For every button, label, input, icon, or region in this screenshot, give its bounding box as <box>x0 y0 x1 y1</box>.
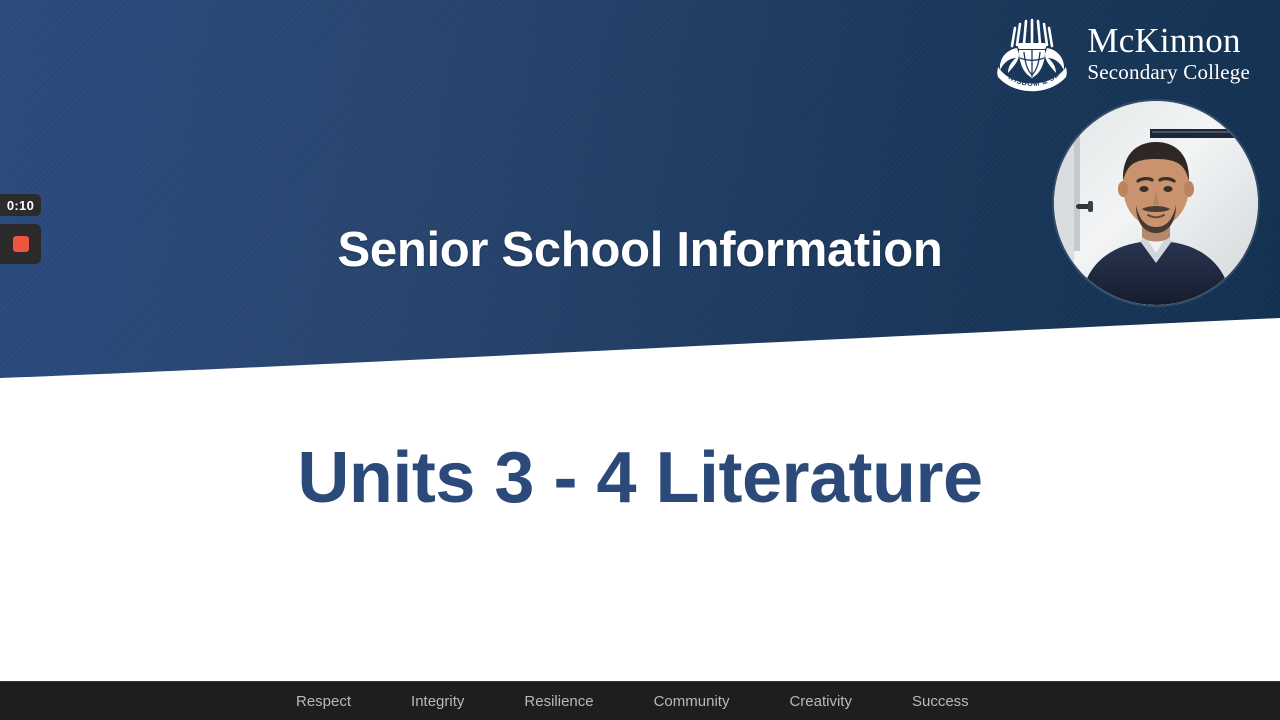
school-subtitle: Secondary College <box>1087 62 1250 83</box>
school-values-footer: Respect Integrity Resilience Community C… <box>0 681 1280 720</box>
value-item: Resilience <box>524 693 593 710</box>
slide-header-banner: WISDOM & SERVICE McKinnon Secondary Coll… <box>0 0 1280 400</box>
value-item: Community <box>654 693 730 710</box>
recording-timer-label: 0:10 <box>7 198 34 213</box>
value-item: Success <box>912 693 969 710</box>
school-name: McKinnon <box>1087 23 1250 58</box>
school-logo-text: McKinnon Secondary College <box>1087 23 1250 83</box>
presentation-slide: WISDOM & SERVICE McKinnon Secondary Coll… <box>0 0 1280 720</box>
slide-main-heading: Units 3 - 4 Literature <box>0 437 1280 519</box>
banner-title: Senior School Information <box>0 222 1280 278</box>
recording-stop-button[interactable] <box>0 224 41 264</box>
value-item: Creativity <box>789 693 852 710</box>
school-logo-lockup: WISDOM & SERVICE McKinnon Secondary Coll… <box>991 14 1250 92</box>
value-item: Respect <box>296 693 351 710</box>
value-item: Integrity <box>411 693 464 710</box>
thistle-crest-icon: WISDOM & SERVICE <box>991 14 1073 92</box>
school-values-list: Respect Integrity Resilience Community C… <box>296 693 969 710</box>
stop-square-icon <box>13 236 29 252</box>
recording-timer: 0:10 <box>0 194 41 216</box>
